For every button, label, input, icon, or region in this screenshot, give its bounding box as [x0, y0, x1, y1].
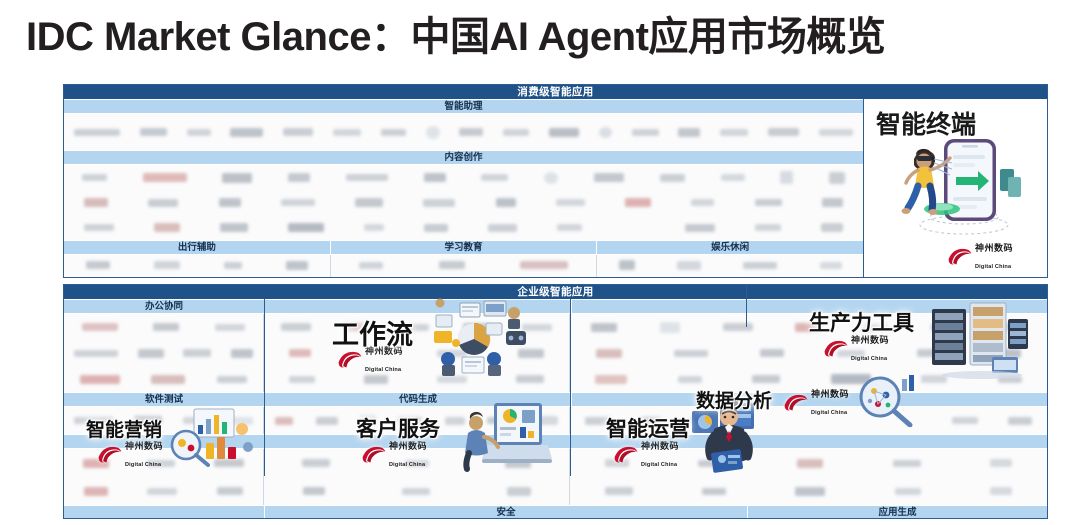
band-consumer-subsections: 出行辅助 学习教育 娱乐休闲 [64, 240, 863, 255]
logo-cell [64, 165, 863, 190]
vendor-logo [822, 198, 843, 207]
vendor-logo [459, 128, 483, 136]
vendor-logo [143, 173, 187, 182]
band-smart-assistant: 智能助理 [64, 99, 863, 114]
band-label-software-testing: 软件测试 [64, 393, 265, 406]
vendor-logo [230, 128, 263, 137]
vendor-logo [147, 488, 177, 495]
vendor-logo [895, 488, 921, 495]
vendor-logo [520, 261, 568, 269]
vendor-logo [720, 129, 748, 136]
vendor-logo [333, 129, 361, 136]
band-label-entertainment: 娱乐休闲 [597, 241, 863, 254]
vendor-logo [605, 487, 633, 495]
vendor-logo [743, 262, 777, 269]
logo-row-subsections-1 [64, 255, 863, 275]
vendor-logo [821, 223, 843, 232]
logo-cell-office [64, 340, 264, 366]
vendor-logo [346, 174, 388, 181]
server-racks-illustration [926, 299, 1032, 381]
vendor-logo [140, 128, 167, 136]
logo-row-ent-1b [64, 340, 1047, 366]
vendor-logo [286, 261, 308, 270]
logo-cell-office [64, 314, 264, 340]
band-enterprise-row4: 安全 应用生成 [64, 505, 1047, 519]
overlay-label-productivity: 生产力工具 [809, 307, 914, 337]
vendor-logo [426, 126, 440, 139]
vendor-logo [990, 459, 1012, 467]
vendor-logo [424, 173, 446, 182]
digital-china-logo: 神州数码 Digital China [96, 437, 163, 471]
vendor-logo [153, 323, 179, 331]
vendor-logo [289, 349, 311, 357]
band-content-creation: 内容创作 [64, 150, 863, 165]
vendor-logo [660, 322, 680, 333]
brand-name-en: Digital China [641, 462, 677, 468]
logo-cell-service [264, 477, 570, 505]
band-label-education: 学习教育 [331, 241, 598, 254]
vendor-logo [74, 129, 120, 136]
vendor-logo [544, 172, 558, 184]
magnifier-data-illustration [850, 373, 920, 427]
logo-row-ent-3b [64, 477, 1047, 505]
band-label-security: 安全 [265, 506, 748, 519]
vendor-logo [151, 375, 185, 384]
vendor-logo [220, 223, 248, 232]
vendor-logo [364, 375, 388, 384]
vendor-logo [691, 199, 714, 206]
digital-china-text: 神州数码 Digital China [975, 239, 1013, 273]
vendor-logo [275, 417, 293, 425]
digital-china-swoosh-icon [822, 338, 848, 358]
vendor-logo [1008, 417, 1032, 425]
vendor-logo [303, 487, 325, 495]
logo-cell-entertainment [597, 255, 863, 275]
vendor-logo [84, 487, 108, 496]
vendor-logo [599, 127, 612, 138]
vendor-logo [488, 224, 517, 232]
vendor-logo [990, 487, 1012, 495]
vendor-logo [283, 128, 313, 136]
smart-terminal-panel: 智能终端 [863, 99, 1047, 278]
brand-name-en: Digital China [389, 462, 425, 468]
vendor-logo [148, 199, 178, 207]
overlay-label-workflow: 工作流 [332, 313, 413, 352]
brand-name-en: Digital China [125, 462, 161, 468]
vendor-logo [138, 349, 164, 358]
vendor-logo [752, 375, 780, 383]
agent-laptop-illustration [456, 401, 552, 473]
vendor-logo [302, 459, 330, 467]
vendor-logo [678, 376, 702, 383]
digital-china-swoosh-icon [782, 392, 808, 412]
vendor-logo [231, 349, 253, 358]
vendor-logo [768, 128, 799, 136]
digital-china-logo: 神州数码 Digital China [782, 385, 849, 419]
logo-cell-travel [64, 255, 331, 275]
logo-row-content-creation-3 [64, 215, 863, 240]
overlay-label-data-analysis: 数据分析 [696, 386, 772, 413]
vendor-logo [359, 262, 383, 269]
vendor-logo [288, 173, 310, 182]
vendor-logo [316, 417, 338, 425]
vendor-logo [507, 487, 531, 496]
vendor-logo [154, 223, 180, 232]
brand-name-en: Digital China [975, 264, 1011, 270]
vendor-logo [364, 224, 384, 231]
logo-cell [64, 114, 863, 150]
vendor-logo [556, 199, 585, 206]
vendor-logo [224, 262, 242, 269]
digital-china-swoosh-icon [946, 246, 972, 266]
woman-with-smartphone-illustration [878, 133, 1038, 237]
vendor-logo [721, 174, 745, 181]
digital-china-swoosh-icon [360, 444, 386, 464]
vendor-logo [219, 198, 241, 207]
column-divider-3 [746, 285, 747, 327]
brand-name-en: Digital China [851, 356, 887, 362]
logo-cell-marketing [64, 477, 264, 505]
vendor-logo [281, 199, 315, 206]
vendor-logo [549, 128, 579, 137]
vendor-logo [723, 323, 753, 331]
vendor-logo [755, 224, 781, 231]
overlay-label-marketing: 智能营销 [86, 415, 162, 442]
band-label-app-generation: 应用生成 [748, 506, 1047, 519]
enterprise-panel: 企业级智能应用 办公协同 [63, 284, 1048, 519]
vendor-logo [215, 324, 245, 331]
page-title: IDC Market Glance：中国AI Agent应用市场概览 [26, 14, 885, 60]
digital-china-logo: 神州数码 Digital China [946, 239, 1013, 273]
vendor-logo [187, 129, 211, 136]
enterprise-section-header: 企业级智能应用 [64, 285, 1047, 299]
band-label-office-collab: 办公协同 [64, 300, 265, 313]
vendor-logo [80, 375, 120, 384]
vendor-logo [780, 171, 793, 184]
vendor-logo [795, 487, 825, 496]
vendor-logo [82, 174, 107, 181]
vendor-logo [154, 261, 180, 269]
band-label-blank-5 [64, 506, 265, 519]
vendor-logo [755, 199, 782, 206]
brand-name-en: Digital China [811, 410, 847, 416]
vendor-logo [86, 261, 110, 269]
logo-cell-entertainment [597, 275, 863, 278]
brand-name-en: Digital China [365, 367, 401, 373]
vendor-logo [217, 487, 243, 495]
vendor-logo [355, 198, 383, 207]
consumer-body: 智能助理 [64, 99, 1047, 278]
logo-row-subsections-2 [64, 275, 863, 278]
vendor-logo [591, 323, 617, 332]
vendor-logo [402, 488, 430, 495]
overlay-label-customer-service: 客户服务 [356, 413, 440, 443]
column-divider-1 [264, 299, 265, 476]
vendor-logo [677, 261, 701, 270]
vendor-logo [596, 349, 622, 358]
vendor-logo [820, 262, 842, 269]
logo-cell-education [331, 275, 598, 278]
brand-name-cn: 神州数码 [125, 441, 163, 451]
consumer-section-header: 消费级智能应用 [64, 85, 1047, 99]
band-label-travel: 出行辅助 [64, 241, 331, 254]
vendor-logo [481, 174, 508, 181]
consumer-grid: 智能助理 [64, 99, 863, 278]
smart-terminal-title: 智能终端 [876, 105, 976, 141]
logo-row-smart-assistant [64, 114, 863, 150]
vendor-logo [217, 376, 247, 383]
vendor-logo [183, 349, 211, 357]
vendor-logo [760, 349, 784, 357]
vendor-logo [797, 459, 823, 468]
logo-cell-travel [64, 275, 331, 278]
vendor-logo [685, 224, 715, 232]
brand-name-cn: 神州数码 [975, 243, 1013, 253]
vendor-logo [557, 224, 582, 231]
vendor-logo [622, 223, 645, 232]
vendor-logo [702, 488, 726, 495]
vendor-logo [496, 198, 516, 207]
vendor-logo [84, 198, 108, 207]
vendor-logo [381, 129, 406, 136]
logo-cell [64, 190, 863, 215]
vendor-logo [84, 224, 114, 231]
vendor-logo [74, 350, 118, 357]
brand-name-cn: 神州数码 [811, 389, 849, 399]
vendor-logo [222, 173, 252, 183]
charts-magnifier-illustration [160, 407, 256, 467]
logo-cell-education [331, 255, 598, 275]
vendor-logo [595, 375, 627, 384]
vendor-logo [952, 417, 978, 424]
overlay-label-operations: 智能运营 [606, 413, 690, 443]
digital-china-text: 神州数码 Digital China [125, 437, 163, 471]
column-divider-2 [570, 299, 571, 476]
digital-china-swoosh-icon [96, 444, 122, 464]
vendor-logo [289, 376, 315, 383]
vendor-logo [503, 129, 529, 136]
vendor-logo [678, 128, 700, 137]
logo-cell-operations [570, 477, 1047, 505]
logo-cell [64, 215, 863, 240]
workflow-collage-illustration [422, 297, 534, 379]
logo-row-content-creation-2 [64, 190, 863, 215]
vendor-logo [281, 323, 311, 331]
digital-china-swoosh-icon [612, 444, 638, 464]
vendor-logo [288, 223, 324, 232]
vendor-logo [439, 261, 465, 269]
vendor-logo [660, 174, 685, 182]
vendor-logo [594, 173, 624, 182]
vendor-logo [674, 350, 708, 357]
logo-cell-office [64, 366, 264, 392]
vendor-logo [893, 460, 921, 467]
market-glance-board: 消费级智能应用 智能助理 [63, 84, 1048, 519]
vendor-logo [82, 323, 118, 331]
logo-row-content-creation-1 [64, 165, 863, 190]
vendor-logo [424, 224, 448, 232]
vendor-logo [619, 260, 635, 270]
vendor-logo [632, 129, 659, 136]
digital-china-text: 神州数码 Digital China [811, 385, 849, 419]
vendor-logo [625, 198, 651, 207]
vendor-logo [819, 129, 853, 136]
vendor-logo [829, 172, 845, 184]
vendor-logo [423, 199, 455, 207]
consumer-panel: 消费级智能应用 智能助理 [63, 84, 1048, 278]
